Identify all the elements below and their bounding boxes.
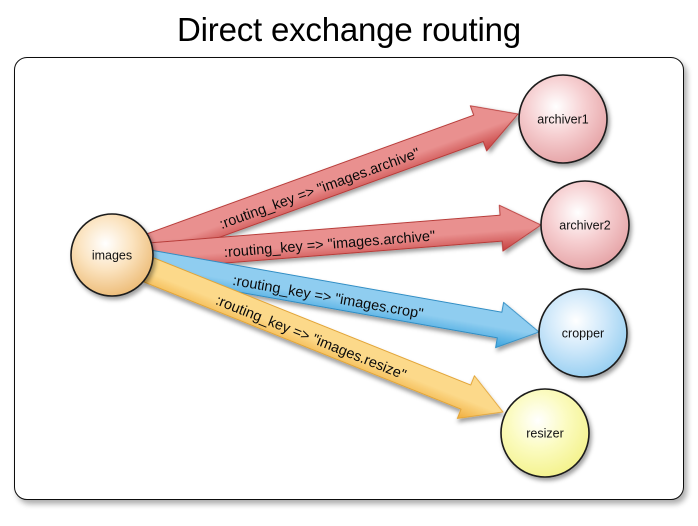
- node-resizer-label: resizer: [526, 427, 564, 441]
- edge-labels-layer: :routing_key => "images.archive":routing…: [213, 146, 436, 384]
- binding-archiver1-label-text: :routing_key => "images.archive": [217, 146, 422, 233]
- edges-layer: [140, 91, 543, 433]
- node-cropper-label: cropper: [562, 327, 604, 341]
- diagram-scene: imagesarchiver1archiver2cropperresizer :…: [0, 0, 698, 526]
- node-archiver2-label: archiver2: [559, 219, 610, 233]
- binding-archiver1-label: :routing_key => "images.archive": [217, 146, 422, 233]
- node-images-label: images: [92, 249, 132, 263]
- diagram-page: Direct exchange routing imagesarchiver1a…: [0, 0, 698, 526]
- node-archiver1-label: archiver1: [537, 113, 588, 127]
